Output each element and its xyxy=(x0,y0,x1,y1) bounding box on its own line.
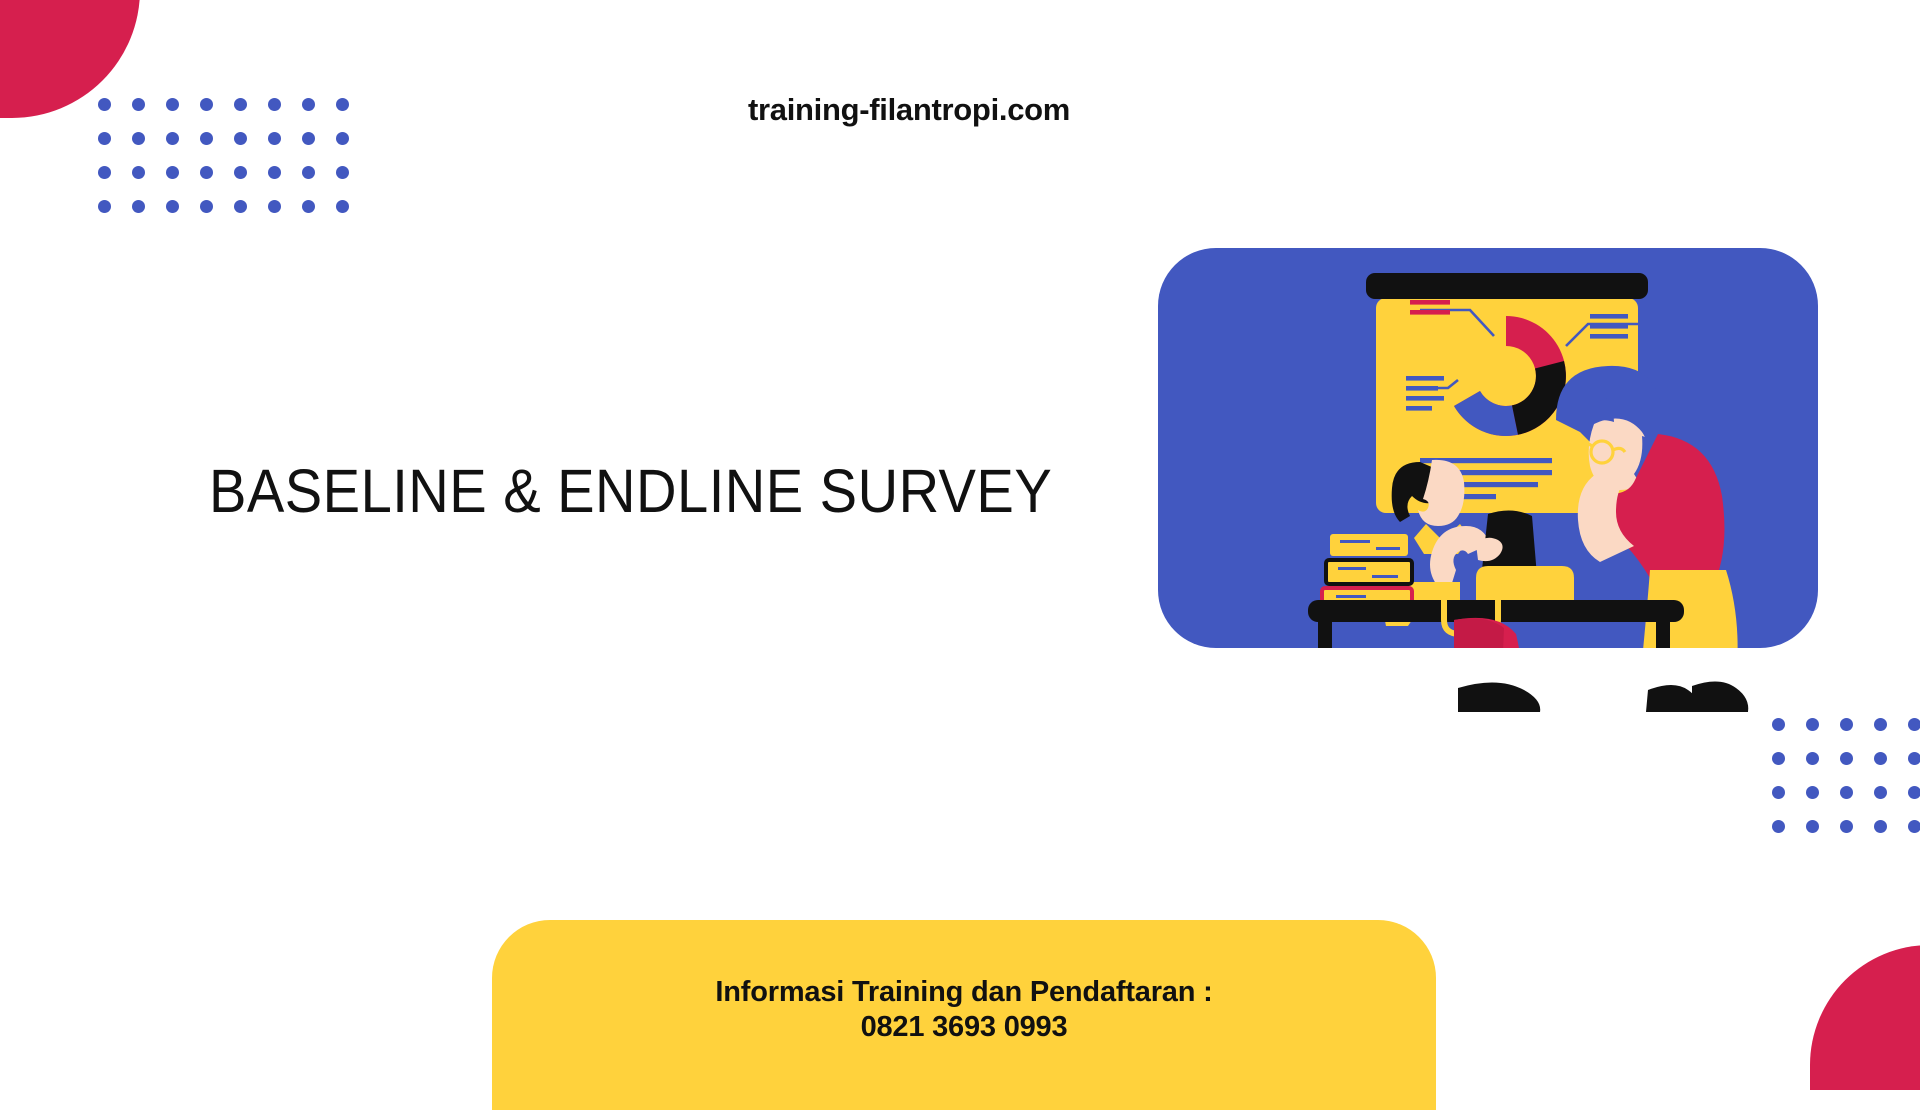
dot xyxy=(1840,820,1853,833)
dot xyxy=(1908,752,1920,765)
dot xyxy=(1908,718,1920,731)
dot xyxy=(234,200,247,213)
dot xyxy=(1908,820,1920,833)
dot xyxy=(1908,786,1920,799)
dot xyxy=(302,166,315,179)
dot xyxy=(1772,786,1785,799)
page-title: BASELINE & ENDLINE SURVEY xyxy=(209,456,1052,526)
hero-illustration xyxy=(1158,248,1858,718)
dot xyxy=(166,132,179,145)
dot xyxy=(268,166,281,179)
cta-line-1: Informasi Training dan Pendaftaran : xyxy=(492,975,1436,1010)
dot xyxy=(268,132,281,145)
dot xyxy=(166,200,179,213)
dot xyxy=(268,98,281,111)
dot xyxy=(1874,820,1887,833)
dot xyxy=(132,132,145,145)
dot xyxy=(1772,820,1785,833)
dot xyxy=(1874,752,1887,765)
book-stack xyxy=(1322,534,1412,610)
dot xyxy=(1874,718,1887,731)
dot xyxy=(1874,786,1887,799)
corner-decoration-bottom-right xyxy=(1810,945,1920,1090)
dot xyxy=(132,166,145,179)
dot xyxy=(1806,718,1819,731)
site-url-label: training-filantropi.com xyxy=(748,92,1070,128)
dot xyxy=(336,166,349,179)
dot xyxy=(234,166,247,179)
dot xyxy=(98,132,111,145)
footwear xyxy=(1458,681,1748,712)
dot xyxy=(302,132,315,145)
dot xyxy=(132,98,145,111)
dot xyxy=(1806,820,1819,833)
dot xyxy=(234,132,247,145)
cta-line-2: 0821 3693 0993 xyxy=(492,1010,1436,1045)
dot xyxy=(302,200,315,213)
dot xyxy=(98,166,111,179)
dot xyxy=(1806,752,1819,765)
dot xyxy=(200,166,213,179)
dot xyxy=(1772,718,1785,731)
dot xyxy=(200,200,213,213)
dot xyxy=(200,132,213,145)
dot xyxy=(268,200,281,213)
presentation-board-rail xyxy=(1366,273,1648,299)
dot xyxy=(336,132,349,145)
dot xyxy=(1840,718,1853,731)
dot-grid-bottom-right xyxy=(1772,718,1920,833)
dot xyxy=(1840,786,1853,799)
dot xyxy=(200,98,213,111)
dot xyxy=(234,98,247,111)
dot xyxy=(336,200,349,213)
dot xyxy=(98,200,111,213)
dot-grid-top-left xyxy=(98,98,349,213)
contact-cta-box[interactable]: Informasi Training dan Pendaftaran : 082… xyxy=(492,920,1436,1110)
dot xyxy=(1840,752,1853,765)
dot xyxy=(132,200,145,213)
dot xyxy=(336,98,349,111)
dot xyxy=(166,98,179,111)
dot xyxy=(1806,786,1819,799)
banner-canvas: training-filantropi.com BASELINE & ENDLI… xyxy=(0,0,1920,1080)
dot xyxy=(302,98,315,111)
dot xyxy=(166,166,179,179)
dot xyxy=(98,98,111,111)
dot xyxy=(1772,752,1785,765)
